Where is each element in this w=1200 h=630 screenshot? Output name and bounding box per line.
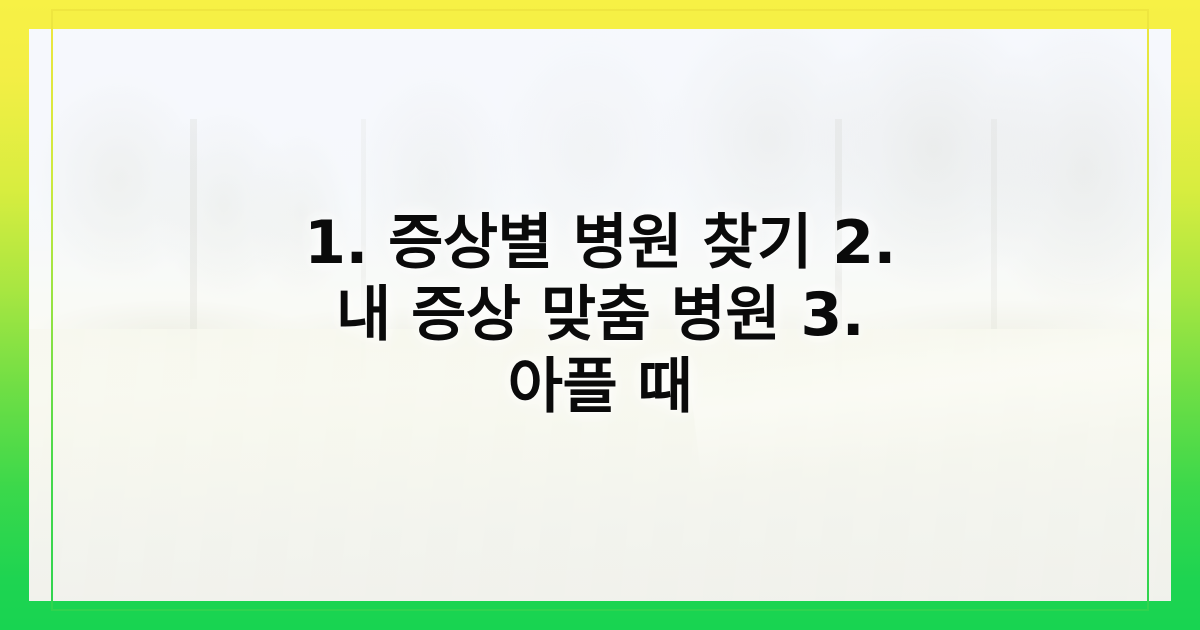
headline-container: 1. 증상별 병원 찾기 2. 내 증상 맞춤 병원 3. 아플 때 xyxy=(0,0,1200,630)
thumbnail-card: 1. 증상별 병원 찾기 2. 내 증상 맞춤 병원 3. 아플 때 xyxy=(0,0,1200,630)
page-title: 1. 증상별 병원 찾기 2. 내 증상 맞춤 병원 3. 아플 때 xyxy=(280,207,920,423)
